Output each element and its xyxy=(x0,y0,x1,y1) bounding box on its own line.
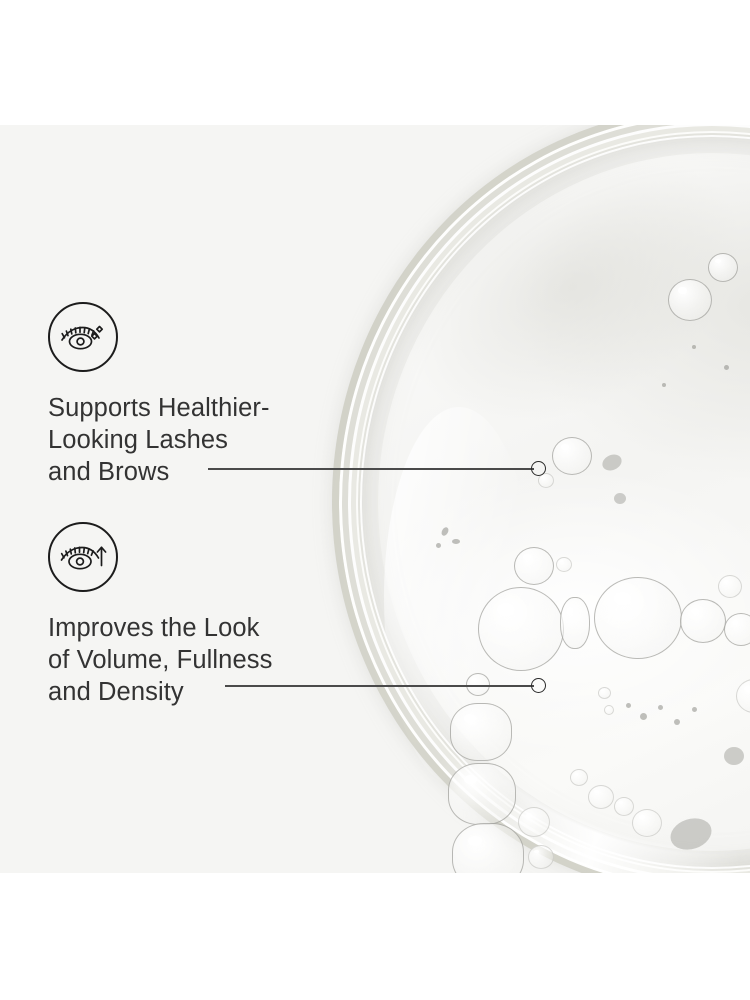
micro-speck xyxy=(658,705,663,710)
bubble xyxy=(594,577,682,659)
bubble xyxy=(514,547,554,585)
bubble xyxy=(518,807,550,837)
connector-endpoint-marker xyxy=(531,461,546,476)
infographic-canvas: Supports Healthier- Looking Lashes and B… xyxy=(0,0,750,1000)
micro-speck xyxy=(674,719,680,725)
gel-blob xyxy=(614,493,626,504)
bubble xyxy=(724,613,750,646)
eye-with-lashes-sparkle-icon xyxy=(48,302,118,372)
feature-block-volume-fullness: Improves the Look of Volume, Fullness an… xyxy=(48,522,348,708)
petri-dish xyxy=(332,125,750,873)
bubble xyxy=(448,763,516,825)
gel-blob xyxy=(724,747,744,765)
bubble xyxy=(604,705,614,715)
micro-speck xyxy=(692,345,696,349)
bubble xyxy=(668,279,712,321)
micro-speck xyxy=(626,703,631,708)
feature-text-volume-fullness: Improves the Look of Volume, Fullness an… xyxy=(48,612,348,708)
feature-text-lashes-brows: Supports Healthier- Looking Lashes and B… xyxy=(48,392,348,488)
bubble xyxy=(450,703,512,761)
product-photo-band xyxy=(0,125,750,873)
bubble xyxy=(552,437,592,475)
bubble xyxy=(598,687,611,699)
micro-speck xyxy=(640,713,647,720)
micro-speck xyxy=(662,383,666,387)
bubble xyxy=(708,253,738,282)
bubble xyxy=(556,557,572,572)
bubble xyxy=(718,575,742,598)
bubble xyxy=(560,597,590,649)
bubble xyxy=(528,845,554,869)
bubble xyxy=(478,587,564,671)
bubble xyxy=(632,809,662,837)
micro-speck xyxy=(724,365,729,370)
eye-with-lashes-up-arrow-icon xyxy=(48,522,118,592)
bubble xyxy=(570,769,588,786)
bubble xyxy=(588,785,614,809)
connector-endpoint-marker xyxy=(531,678,546,693)
micro-speck xyxy=(452,539,460,544)
micro-speck xyxy=(692,707,697,712)
bubble xyxy=(614,797,634,816)
dish-rim-specular xyxy=(340,125,750,873)
bubble xyxy=(452,823,524,873)
micro-speck xyxy=(436,543,441,548)
bubble xyxy=(680,599,726,643)
feature-block-lashes-brows: Supports Healthier- Looking Lashes and B… xyxy=(48,302,348,488)
